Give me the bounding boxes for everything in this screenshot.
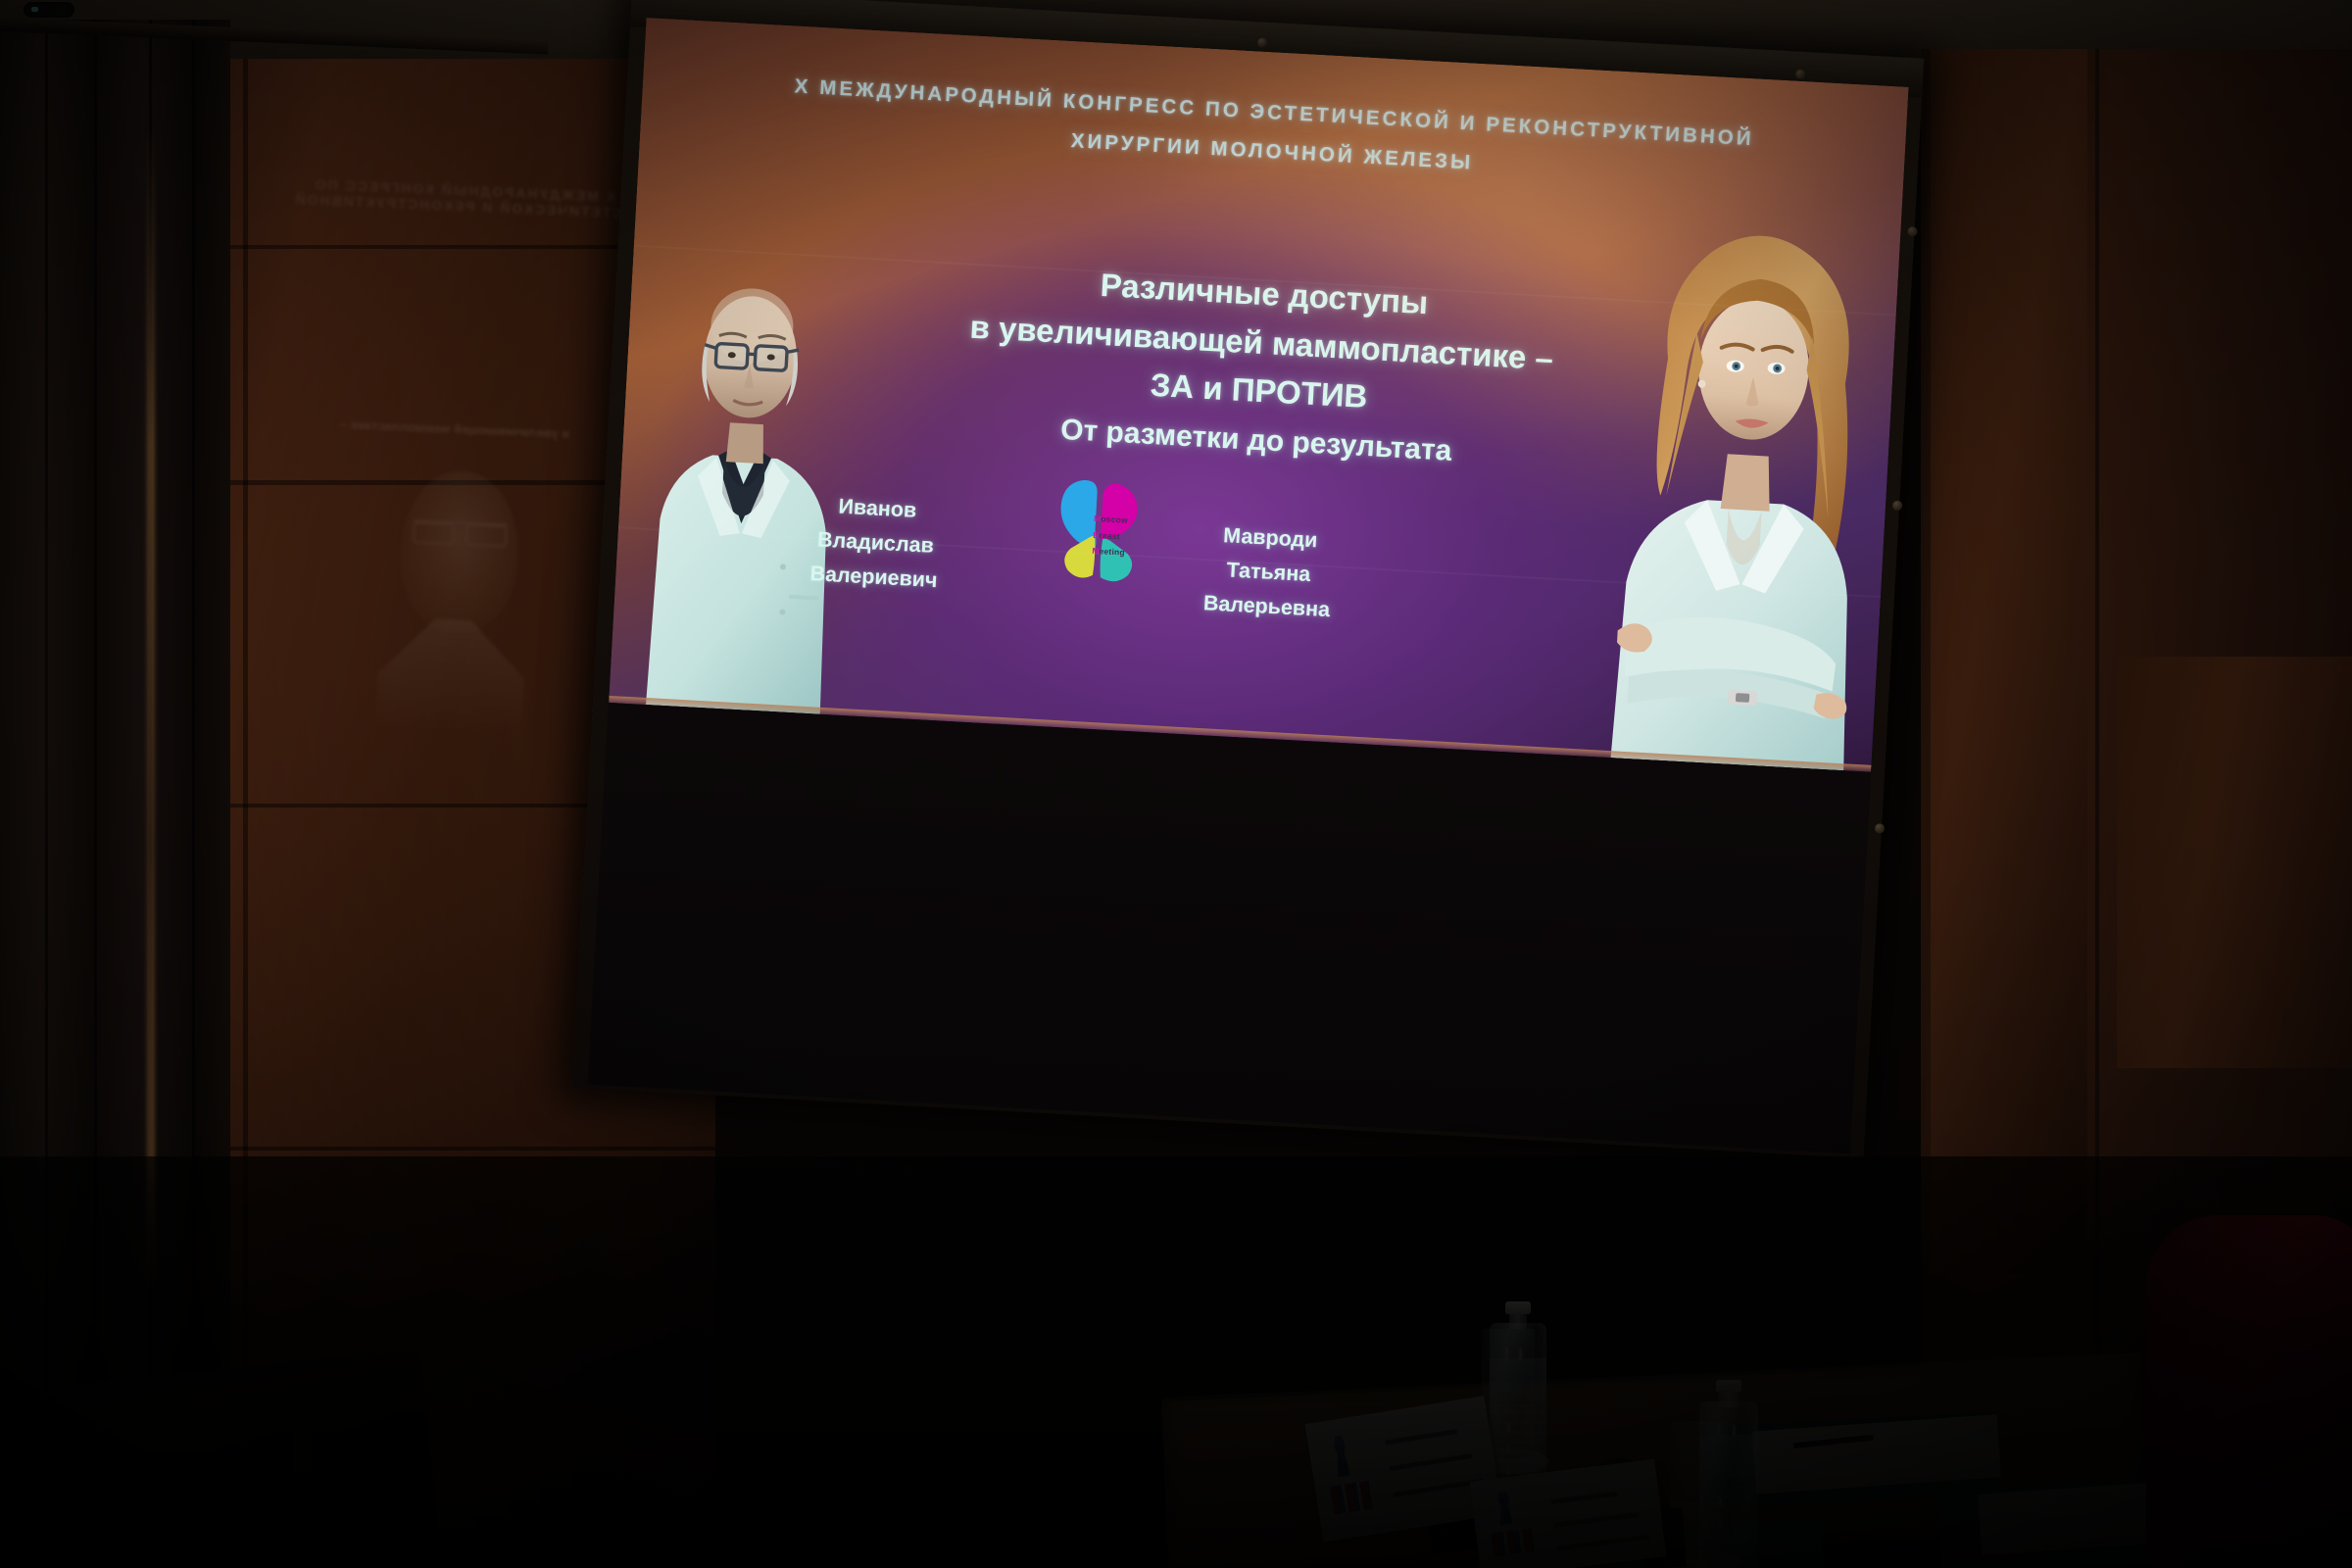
bottle-cap [1716,1380,1741,1393]
speaker-name-left: Иванов Владислав Валериевич [760,485,991,600]
presentation-slide: X МЕЖДУНАРОДНЫЙ КОНГРЕСС ПО ЭСТЕТИЧЕСКОЙ… [609,18,1909,772]
screen-surface: X МЕЖДУНАРОДНЫЙ КОНГРЕСС ПО ЭСТЕТИЧЕСКОЙ… [588,18,1909,1153]
ceiling-sensor-icon [24,2,74,18]
nameplate-emblem-icon [1324,1434,1359,1479]
nameplate-line-1 [1385,1429,1457,1445]
warm-light-gap [147,118,155,1294]
conference-hall-photo: X МЕЖДУНАРОДНЫЙ КОНГРЕСС ПО ЭСТЕТИЧЕСКОЙ… [0,0,2352,1568]
blackout-curtain [0,20,230,1568]
slide-kicker: X МЕЖДУНАРОДНЫЙ КОНГРЕСС ПО ЭСТЕТИЧЕСКОЙ… [640,59,1906,207]
nameplate-line-2 [1553,1512,1639,1528]
projection-screen: X МЕЖДУНАРОДНЫЙ КОНГРЕСС ПО ЭСТЕТИЧЕСКОЙ… [583,10,1909,1234]
frame-bolt [1907,226,1918,237]
nameplate-flag-icon [1491,1529,1534,1557]
logo-line-breast: Breast [1093,529,1120,541]
bottle-label [1490,1358,1546,1401]
bottle-rings [1699,1486,1758,1544]
water-bottle [1699,1380,1758,1568]
frame-bolt [1875,823,1886,834]
screen-dark-area-below-slide [588,703,1871,1153]
red-chair-shading [2146,1215,2352,1568]
foreground-table-leg [93,1450,109,1568]
nameplate-flag-icon [1330,1481,1374,1515]
nameplate-emblem-icon [1488,1490,1521,1526]
nameplate-line-3 [1556,1535,1649,1551]
speaker-name-right: Мавроди Татьяна Валерьевна [1144,514,1394,630]
nameplate-line-2 [1389,1453,1472,1471]
bottle-label [1699,1435,1758,1478]
moscow-breast-meeting-logo: Moscow Breast Meeting [1048,476,1151,587]
bottle-rings [1490,1411,1546,1472]
logo-line-moscow: Moscow [1094,514,1128,525]
nameplate-line-1 [1550,1492,1617,1504]
frame-bolt [1892,501,1903,512]
foreground-table-leg [294,1431,312,1568]
bottle-cap [1505,1301,1531,1314]
